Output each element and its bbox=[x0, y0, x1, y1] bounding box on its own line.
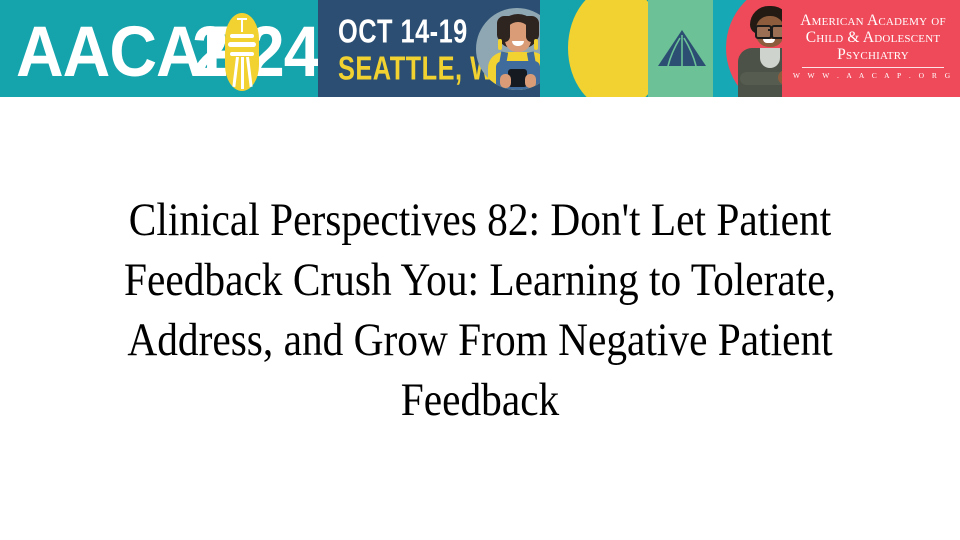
aacap-2024-wordmark: AACAP 2 24 bbox=[16, 8, 308, 88]
page-title: Clinical Perspectives 82: Don't Let Pati… bbox=[77, 190, 883, 430]
needle-mast-top bbox=[237, 18, 247, 20]
logo-divider bbox=[802, 67, 944, 68]
needle-mast bbox=[241, 19, 243, 32]
glasses-icon-bridge bbox=[768, 29, 771, 31]
woman-hair-right bbox=[526, 16, 539, 42]
needle-saucer-upper bbox=[230, 34, 254, 38]
presentation-slide: AACAP 2 24 OCT 14-19 SEATTLE, WA bbox=[0, 0, 960, 540]
boy-shirt bbox=[760, 48, 780, 68]
woman-earring-right bbox=[534, 39, 538, 50]
needle-leg-left bbox=[232, 57, 239, 87]
banner-panel-brand: AACAP 2 24 bbox=[0, 0, 318, 97]
woman-earring-left bbox=[498, 39, 502, 50]
woman-hand-left bbox=[500, 74, 511, 88]
needle-saucer-lower bbox=[230, 52, 254, 56]
title-block: Clinical Perspectives 82: Don't Let Pati… bbox=[22, 190, 938, 430]
logo-line-child-and-adolescent: Child & Adolescent bbox=[790, 29, 956, 46]
needle-leg-center bbox=[241, 57, 244, 89]
needle-saucer-middle bbox=[228, 42, 256, 47]
needle-leg-right bbox=[246, 57, 253, 87]
woman-hand-right bbox=[525, 74, 536, 88]
conference-dates-text: OCT 14-19 bbox=[338, 13, 468, 51]
glasses-icon-left-lens bbox=[755, 25, 772, 39]
logo-line-american-academy-of: American Academy of bbox=[790, 12, 956, 29]
aacap-organization-logo: American Academy of Child & Adolescent P… bbox=[790, 12, 956, 80]
logo-website-url: W W W . A A C A P . O R G bbox=[790, 71, 956, 80]
space-needle-icon bbox=[225, 13, 259, 91]
mountain-icon bbox=[654, 28, 710, 68]
logo-line-psychiatry: Psychiatry bbox=[790, 46, 956, 63]
conference-banner: AACAP 2 24 OCT 14-19 SEATTLE, WA bbox=[0, 0, 960, 97]
wordmark-year-prefix: 2 bbox=[192, 8, 228, 94]
